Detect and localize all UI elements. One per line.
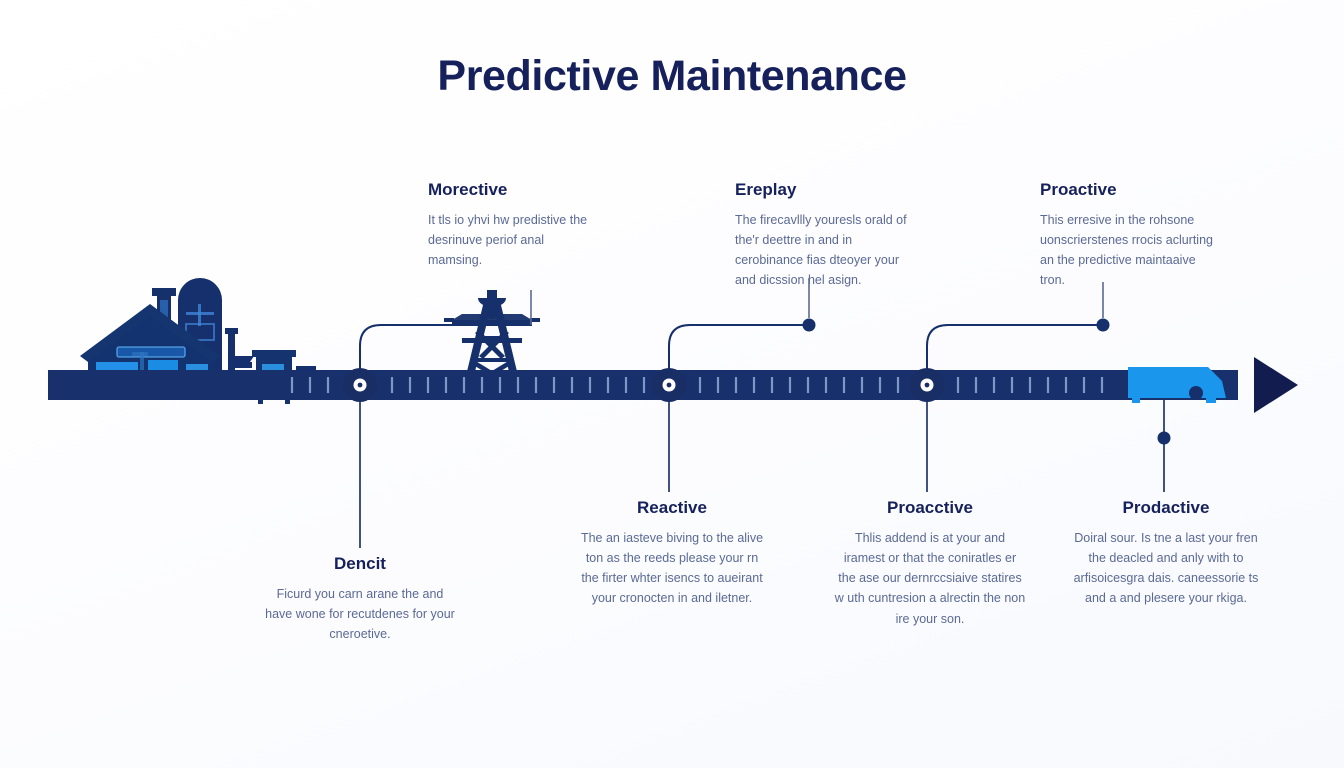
connector-node4-bottom: [1158, 400, 1171, 492]
info-block-bottom-1-body: Ficurd you carn arane the and have wone …: [262, 584, 458, 645]
connector-dot-icon: [1097, 319, 1110, 332]
info-block-top-3-heading: Proactive: [1040, 181, 1220, 200]
delivery-truck-icon: [1128, 367, 1226, 403]
info-block-bottom-4: Prodactive Doiral sour. Is tne a last yo…: [1068, 499, 1264, 609]
info-block-top-1-body: It tls io yhvi hw predistive the desrinu…: [428, 210, 596, 271]
timeline-node-3[interactable]: [910, 368, 944, 402]
timeline-node-1[interactable]: [343, 368, 377, 402]
info-block-top-2-heading: Ereplay: [735, 181, 917, 200]
info-block-bottom-2-body: The an iasteve biving to the alive ton a…: [576, 528, 768, 609]
maintenance-timeline-track[interactable]: [48, 370, 1238, 400]
info-block-bottom-4-body: Doiral sour. Is tne a last your fren the…: [1068, 528, 1264, 609]
info-block-bottom-2: Reactive The an iasteve biving to the al…: [576, 499, 768, 609]
infographic-canvas: Predictive Maintenance: [0, 0, 1344, 768]
info-block-bottom-3-heading: Proacctive: [834, 499, 1026, 518]
arrow-right-icon: [1254, 357, 1298, 413]
info-block-bottom-3-body: Thlis addend is at your and iramest or t…: [834, 528, 1026, 629]
connector-dot-icon: [803, 319, 816, 332]
connector-dot-icon: [1158, 432, 1171, 445]
timeline-node-2[interactable]: [652, 368, 686, 402]
timeline-artwork: [0, 0, 1344, 768]
info-block-bottom-1: Dencit Ficurd you carn arane the and hav…: [262, 555, 458, 644]
info-block-top-2-body: The firecavllly youresls orald of the'r …: [735, 210, 917, 291]
info-block-top-1: Morective It tls io yhvi hw predistive t…: [428, 181, 596, 270]
info-block-bottom-4-heading: Prodactive: [1068, 499, 1264, 518]
info-block-bottom-1-heading: Dencit: [262, 555, 458, 574]
info-block-top-2: Ereplay The firecavllly youresls orald o…: [735, 181, 917, 291]
info-block-bottom-3: Proacctive Thlis addend is at your and i…: [834, 499, 1026, 629]
info-block-bottom-2-heading: Reactive: [576, 499, 768, 518]
connector-node2-top: [669, 278, 816, 378]
connector-node3-top: [927, 282, 1110, 378]
info-block-top-3-body: This erresive in the rohsone uonscrierst…: [1040, 210, 1220, 291]
info-block-top-1-heading: Morective: [428, 181, 596, 200]
info-block-top-3: Proactive This erresive in the rohsone u…: [1040, 181, 1220, 291]
